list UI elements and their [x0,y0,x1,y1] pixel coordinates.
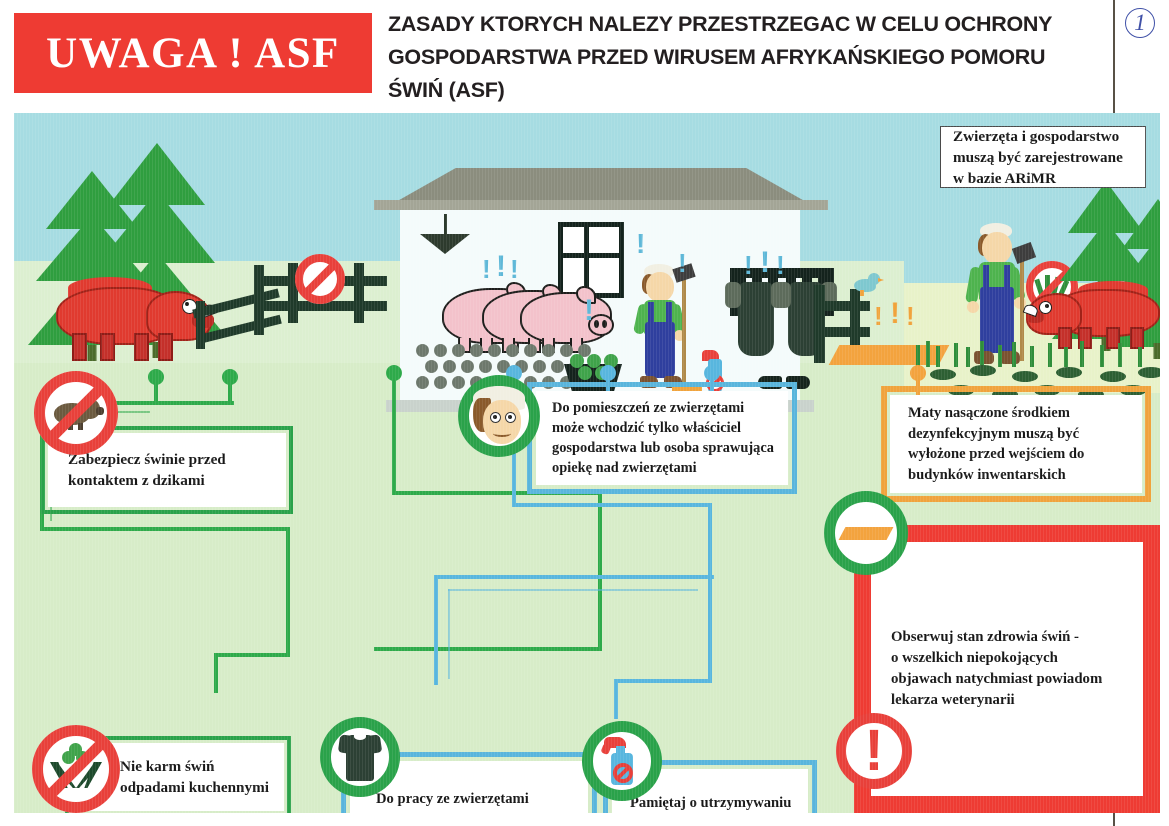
barn-roof-edge [374,200,828,210]
connector-wire [598,491,602,651]
callout-text: Zabezpiecz świnie przed kontaktem z dzik… [68,449,226,491]
overall-strap [648,302,654,326]
lamp-shade [420,234,470,254]
barn-roof [374,168,828,204]
callout-line: odpadami kuchennymi [120,779,269,796]
grass-patch [914,341,1160,367]
title-line-1: ZASADY KTORYCH NALEZY PRZESTRZEGAC W CEL… [388,8,1103,41]
callout-text: Nie karm świń odpadami kuchennymi [120,756,269,798]
window-icon [558,222,624,298]
fence-post [814,285,825,363]
overall-strap [666,302,672,326]
fence-icon [814,301,870,311]
connector-wire [434,575,714,579]
callout-line: opiekę nad zwierzętami [552,460,697,476]
poster-header: UWAGA ! ASF ZASADY KTORYCH NALEZY PRZEST… [0,0,1169,112]
window-bar [563,253,619,258]
callout-line: objawach natychmiast powiadom [891,671,1102,687]
alert-mark: ! [890,299,900,329]
handwritten-page-number: 1 [1122,6,1158,40]
tshirt-symbol [339,733,381,781]
farmer-face-icon [458,375,540,457]
alert-mark: ! [678,250,687,276]
callout-text: Pamiętaj o utrzymywaniu pomieszczeń w cz… [630,793,791,813]
farmer-overalls [645,322,675,378]
callout-line: o wszelkich niepokojących [891,650,1058,666]
boar-leg [100,333,115,361]
callout-line: Pamiętaj o utrzymywaniu [630,795,791,811]
connector-wire [434,575,438,685]
callout-line: lekarza weterynarii [891,692,1015,708]
uwaga-asf-banner: UWAGA ! ASF [14,13,372,93]
callout-body: Maty nasączone środkiem dezynfekcyjnym m… [894,399,1138,489]
connector-wire [392,491,602,495]
callout-line: Do pracy ze zwierzętami [376,791,529,807]
connector-node [148,369,164,385]
coverall-sleeve [775,282,791,308]
callout-disinfection-mats: Maty nasączone środkiem dezynfekcyjnym m… [890,395,1142,493]
alert-mark: ! [906,303,915,329]
callout-body: Zwierzęta i gospodarstwo muszą być zarej… [941,127,1145,187]
callout-line: wyłożone przed wejściem do [908,446,1084,462]
hanging-coveralls-icon [738,282,774,356]
broom-icon [682,270,686,388]
connector-wire [374,647,602,651]
coverall-sleeve [725,282,741,308]
wild-boar-icon [50,273,210,353]
mat-icon [824,491,908,575]
barn-icon: ! ! ! ! ! ! ! ! ! [386,168,816,423]
overall-strap [1004,265,1010,291]
callout-line: Obserwuj stan zdrowia świń - [891,629,1079,645]
connector-wire [154,401,234,405]
callout-line: kontaktem z dzikami [68,472,205,489]
callout-body: Obserwuj stan zdrowia świń - o wszelkich… [871,542,1143,796]
asf-poster: UWAGA ! ASF ZASADY KTORYCH NALEZY PRZEST… [0,0,1169,826]
callout-arimr: Zwierzęta i gospodarstwo muszą być zarej… [940,126,1146,188]
no-pig-icon [34,371,118,455]
overall-strap [983,265,989,291]
alert-mark: ! [760,248,770,278]
callout-body: Do pomieszczeń ze zwierzętami może wchod… [540,395,784,481]
page-title: ZASADY KTORYCH NALEZY PRZESTRZEGAC W CEL… [388,8,1103,107]
callout-line: Zwierzęta i gospodarstwo [953,128,1119,145]
alert-mark: ! [874,303,883,329]
connector-wire [614,679,618,719]
connector-wire [448,589,450,679]
exclamation-icon: ! [836,713,912,789]
fence-icon [814,327,870,337]
connector-wire [614,679,712,683]
alert-mark: ! [482,256,491,282]
window-bar [584,227,589,293]
farmer-hand [967,301,979,313]
callout-text: Maty nasączone środkiem dezynfekcyjnym m… [908,403,1084,485]
no-food-waste-icon [32,725,120,813]
pig-icon [520,292,612,344]
callout-line: Nie karm świń [120,758,215,775]
connector-wire [40,527,290,531]
fence-post [354,263,364,323]
alert-mark: ! [584,296,594,326]
exclamation-glyph: ! [864,722,883,780]
mat-symbol [839,527,894,540]
callout-line: w bazie ARiMR [953,170,1056,187]
boar-eye [1039,301,1052,314]
boar-leg [72,333,87,361]
alert-mark: ! [636,230,645,258]
page-number-circle [1125,8,1155,38]
callout-line: budynków inwentarskich [908,467,1066,483]
alert-mark: ! [510,256,519,282]
no-entry-sign-icon [295,254,345,304]
alert-mark: ! [744,252,753,278]
alert-mark: ! [496,252,506,282]
callout-line: dezynfekcyjnym muszą być [908,426,1079,442]
boar-leg [158,333,173,361]
fence-post [196,301,205,349]
connector-wire [392,375,396,495]
fence-post [850,289,860,351]
callout-line: muszą być zarejestrowane [953,149,1123,166]
callout-line: używaj oddzielnego stroju [376,812,539,813]
callout-entry-restriction: Do pomieszczeń ze zwierzętami może wchod… [536,391,788,485]
callout-text: Zwierzęta i gospodarstwo muszą być zarej… [953,126,1123,189]
connector-wire [228,379,232,405]
farmer-boot [640,376,658,388]
connector-wire [214,653,218,693]
tshirt-icon [320,717,400,797]
connector-wire [708,503,712,683]
bird-icon [850,273,880,295]
wild-boar-icon [1026,279,1160,341]
title-line-3: ŚWIŃ (ASF) [388,74,1103,107]
hanging-lamp-icon [444,214,447,236]
connector-wire [512,503,712,507]
connector-wire [286,527,290,657]
spray-bottle-icon [582,721,662,801]
callout-line: gospodarstwa lub osoba sprawująca [552,440,774,456]
callout-line: może wchodzić tylko właściciel [552,420,741,436]
callout-line: Do pomieszczeń ze zwierzętami [552,400,744,416]
connector-wire [214,653,290,657]
callout-text: Do pomieszczeń ze zwierzętami może wchod… [552,398,774,478]
farmer-head [646,272,674,302]
boar-leg [134,333,149,361]
callout-line: Zabezpiecz świnie przed [68,451,226,468]
connector-node [386,365,402,381]
callout-line: Maty nasączone środkiem [908,405,1070,421]
title-line-2: GOSPODARSTWA PRZED WIRUSEM AFRYKAŃSKIEGO… [388,41,1103,74]
farm-illustration: ! ! ! ! ! ! ! ! ! ! ! ! [14,113,1160,813]
callout-text: Do pracy ze zwierzętami używaj oddzielne… [376,789,541,813]
callout-text: Obserwuj stan zdrowia świń - o wszelkich… [891,627,1102,711]
spray-symbol [602,737,642,785]
face-symbol [471,386,527,446]
alert-mark: ! [776,252,785,278]
rubber-boots-icon [758,376,814,392]
connector-wire [448,589,698,591]
farmer-head [982,232,1012,264]
banner-title: UWAGA ! ASF [46,29,340,78]
